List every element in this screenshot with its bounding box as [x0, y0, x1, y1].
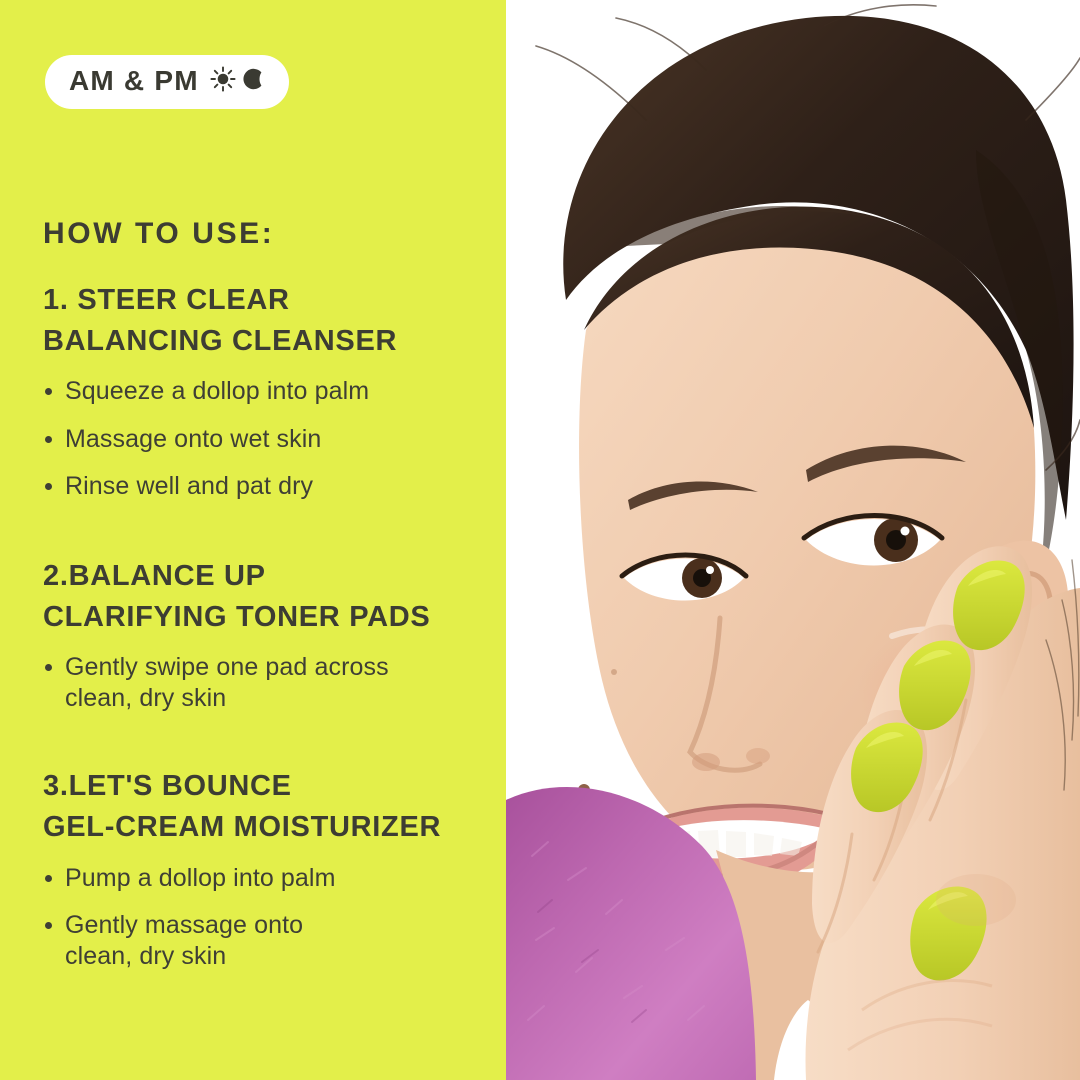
- spacer: [43, 730, 498, 766]
- step-1: 1. STEER CLEAR BALANCING CLEANSER Squeez…: [43, 280, 498, 502]
- step-2-heading: 2.BALANCE UP CLARIFYING TONER PADS: [43, 556, 498, 638]
- list-item: Gently swipe one pad across clean, dry s…: [43, 652, 498, 713]
- list-item: Rinse well and pat dry: [43, 471, 498, 502]
- step-2: 2.BALANCE UP CLARIFYING TONER PADS Gentl…: [43, 556, 498, 713]
- spacer: [43, 519, 498, 556]
- section-title: HOW TO USE:: [43, 219, 498, 249]
- list-item: Gently massage onto clean, dry skin: [43, 910, 498, 971]
- step-1-bullets: Squeeze a dollop into palm Massage onto …: [43, 376, 498, 502]
- step-2-bullets: Gently swipe one pad across clean, dry s…: [43, 652, 498, 713]
- list-item: Squeeze a dollop into palm: [43, 376, 498, 407]
- sun-icon: [210, 66, 236, 97]
- step-3-bullets: Pump a dollop into palm Gently massage o…: [43, 863, 498, 972]
- am-pm-badge-label: AM & PM: [69, 67, 199, 95]
- model-photo: [506, 0, 1080, 1080]
- instructions-panel: AM & PM: [0, 0, 506, 1080]
- step-3-heading: 3.LET'S BOUNCE GEL-CREAM MOISTURIZER: [43, 766, 498, 848]
- am-pm-badge: AM & PM: [45, 55, 289, 109]
- list-item: Massage onto wet skin: [43, 424, 498, 455]
- badge-icon-group: [210, 66, 267, 97]
- step-3: 3.LET'S BOUNCE GEL-CREAM MOISTURIZER Pum…: [43, 766, 498, 971]
- list-item: Pump a dollop into palm: [43, 863, 498, 894]
- moon-icon: [243, 66, 267, 97]
- promo-graphic: AM & PM: [0, 0, 1080, 1080]
- how-to-use-content: HOW TO USE: 1. STEER CLEAR BALANCING CLE…: [43, 219, 498, 988]
- step-1-heading: 1. STEER CLEAR BALANCING CLEANSER: [43, 280, 498, 362]
